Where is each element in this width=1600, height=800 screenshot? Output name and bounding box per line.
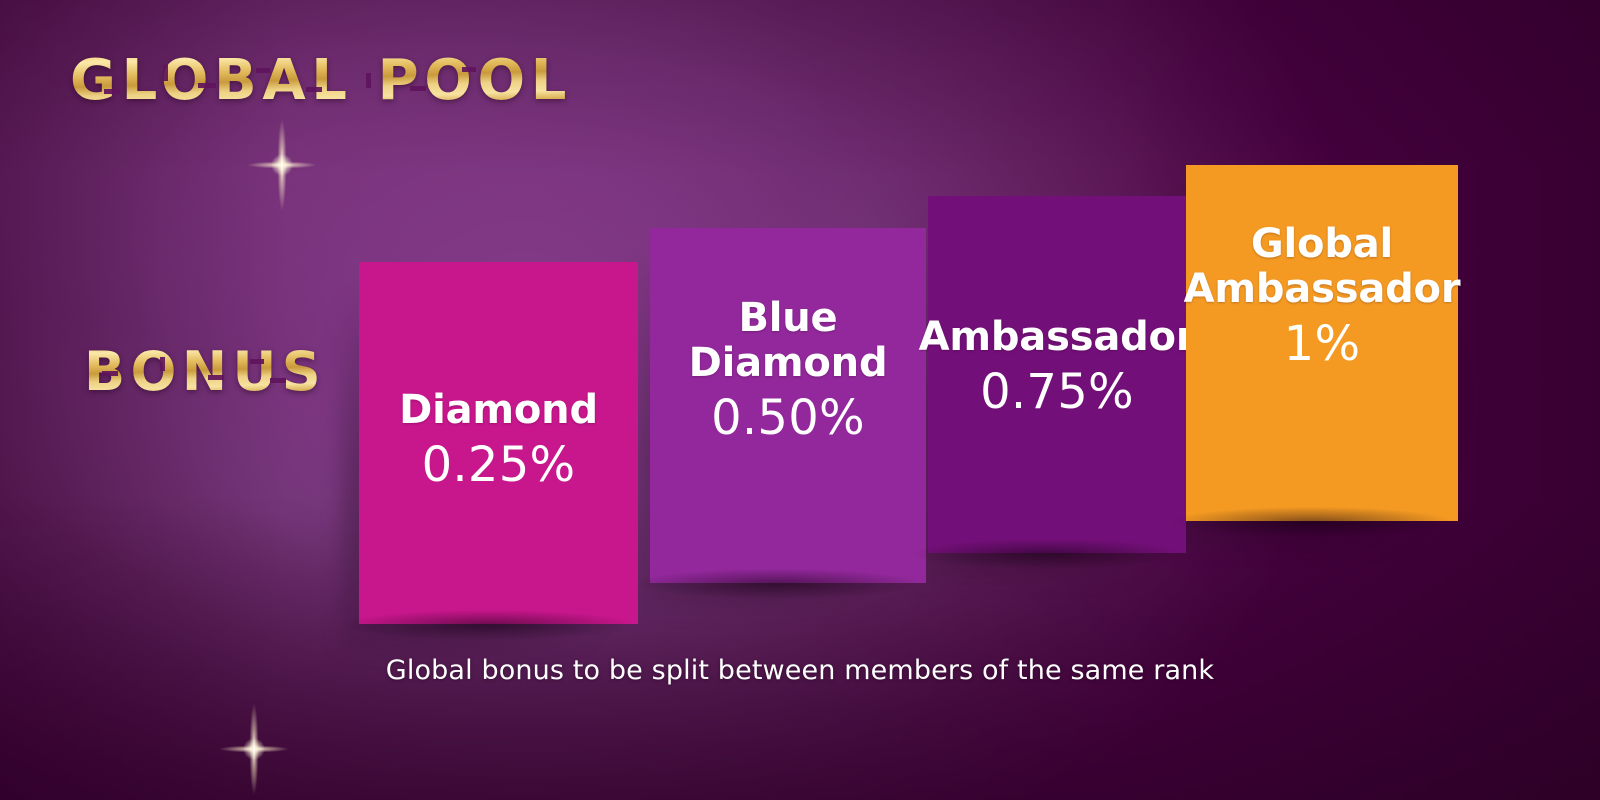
- bar-label: Global Ambassador: [1184, 222, 1461, 312]
- bar-ambassador[interactable]: Ambassador0.75%: [928, 196, 1186, 553]
- chart-caption: Global bonus to be split between members…: [0, 655, 1600, 686]
- bar-value: 0.50%: [711, 392, 865, 445]
- page-title: GLOBAL POOL: [70, 53, 572, 109]
- bar-label: Ambassador: [919, 315, 1196, 360]
- page-subtitle-text: BONUS: [84, 345, 326, 399]
- infographic-canvas: GLOBAL POOL BONUS Diamond0.25%Blue Diamo…: [0, 0, 1600, 800]
- bar-value: 0.75%: [980, 366, 1134, 419]
- bar-label: Diamond: [399, 388, 598, 433]
- bar-value: 1%: [1284, 318, 1361, 371]
- page-title-text: GLOBAL POOL: [70, 53, 572, 109]
- bar-label: Blue Diamond: [660, 296, 916, 386]
- bar-global-ambassador[interactable]: Global Ambassador1%: [1186, 165, 1458, 521]
- bar-value: 0.25%: [422, 439, 576, 492]
- bar-diamond[interactable]: Diamond0.25%: [359, 262, 638, 624]
- bar-blue-diamond[interactable]: Blue Diamond0.50%: [650, 228, 926, 583]
- page-subtitle: BONUS: [84, 345, 326, 399]
